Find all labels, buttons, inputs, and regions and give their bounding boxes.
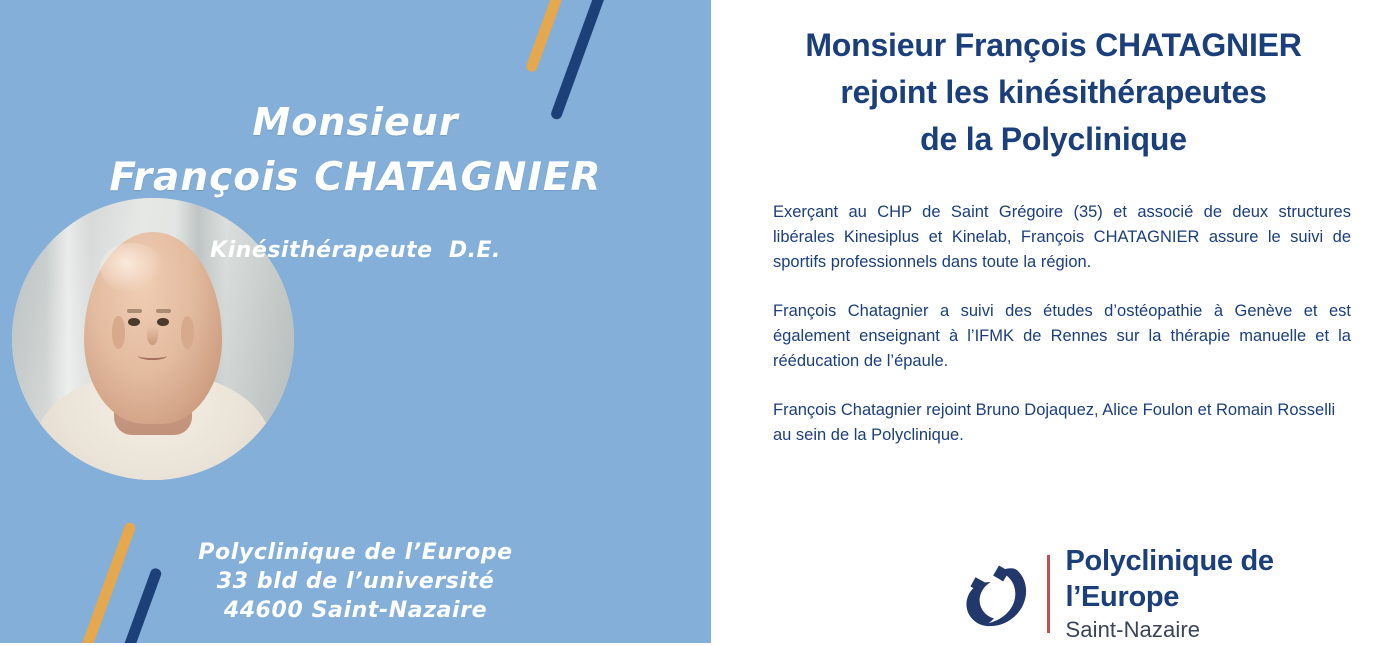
address-line-3: 44600 Saint-Nazaire: [0, 596, 711, 625]
page-title-line1: Monsieur François CHATAGNIER: [747, 22, 1360, 69]
portrait-ear-right: [181, 316, 195, 349]
portrait-brow-right: [156, 309, 171, 312]
logo-text: Polyclinique de l’Europe Saint-Nazaire: [1066, 543, 1382, 645]
portrait-eye-left: [128, 318, 140, 326]
profile-name: Monsieur François CHATAGNIER: [0, 95, 711, 205]
address-line-2: 33 bld de l’université: [0, 567, 711, 596]
profile-name-line1: Monsieur: [0, 95, 711, 150]
profile-name-line2: François CHATAGNIER: [0, 150, 711, 205]
portrait-brow-left: [127, 309, 142, 312]
page-title-line3: de la Polyclinique: [747, 116, 1360, 163]
logo-name: Polyclinique de l’Europe: [1066, 543, 1382, 615]
polyclinique-swirl-mark-icon: [957, 552, 1041, 636]
address-line-1: Polyclinique de l’Europe: [0, 538, 711, 567]
right-content-panel: Monsieur François CHATAGNIER rejoint les…: [711, 0, 1382, 643]
logo-city: Saint-Nazaire: [1066, 615, 1382, 645]
logo: Polyclinique de l’Europe Saint-Nazaire: [957, 551, 1382, 637]
logo-divider: [1047, 555, 1050, 633]
clinic-address: Polyclinique de l’Europe 33 bld de l’uni…: [0, 538, 711, 625]
profile-role: Kinésithérapeute D.E.: [0, 238, 711, 263]
page-title-line2: rejoint les kinésithérapeutes: [747, 69, 1360, 116]
announcement-card: Monsieur François CHATAGNIER Kinésithéra…: [0, 0, 1382, 643]
left-profile-panel: Monsieur François CHATAGNIER Kinésithéra…: [0, 0, 711, 643]
paragraph-2: François Chatagnier a suivi des études d…: [773, 299, 1351, 374]
portrait-nose: [147, 326, 158, 345]
paragraph-1: Exerçant au CHP de Saint Grégoire (35) e…: [773, 200, 1351, 275]
portrait-ear-left: [112, 316, 126, 349]
page-title: Monsieur François CHATAGNIER rejoint les…: [747, 22, 1360, 163]
paragraph-3: François Chatagnier rejoint Bruno Dojaqu…: [773, 398, 1351, 448]
article-body: Exerçant au CHP de Saint Grégoire (35) e…: [773, 200, 1351, 448]
portrait-mouth: [138, 352, 167, 360]
portrait-eye-right: [157, 318, 169, 326]
